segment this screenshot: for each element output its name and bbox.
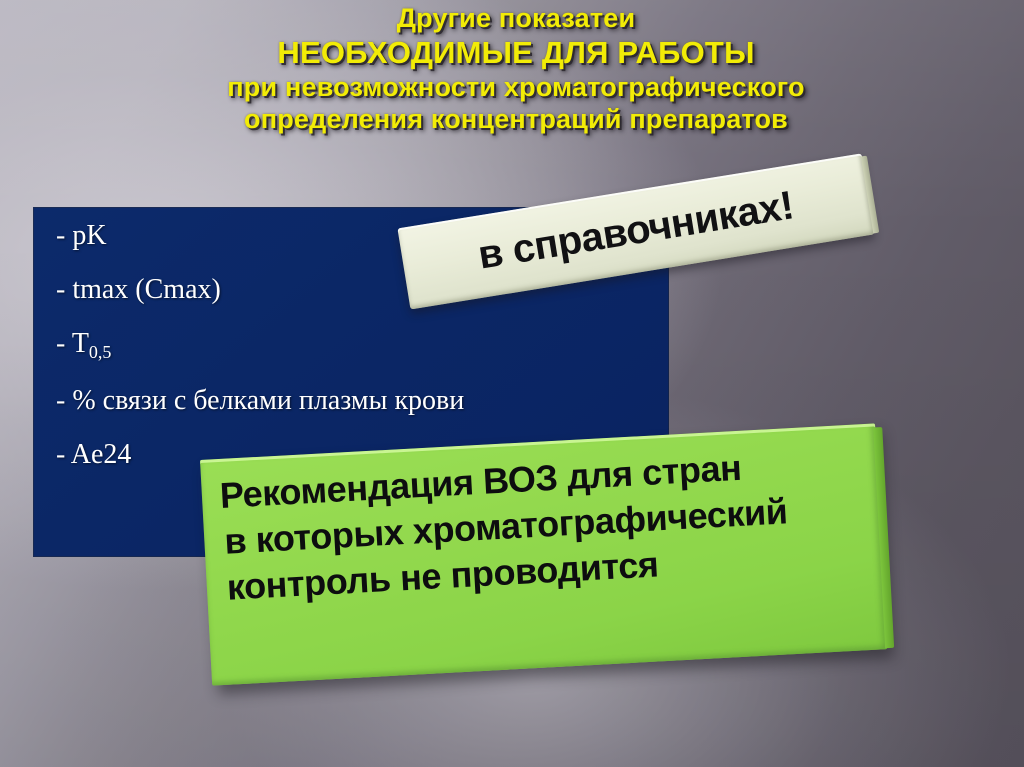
title-line-2: НЕОБХОДИМЫЕ ДЛЯ РАБОТЫ [96, 33, 936, 69]
list-item-text: - Ae24 [56, 439, 131, 470]
list-item-text: - T [56, 328, 89, 359]
title-line-3: при невозможности хроматографического [96, 68, 936, 102]
list-item-subscript: 0,5 [89, 342, 112, 362]
sign-who-recommendation: Рекомендация ВОЗ для стран в которых хро… [200, 423, 887, 685]
title-line-1: Другие показатеи [96, 2, 936, 33]
slide-title: Другие показатеи НЕОБХОДИМЫЕ ДЛЯ РАБОТЫ … [96, 2, 936, 133]
list-item: - % связи с белками плазмы крови [56, 387, 464, 441]
list-item-text: - % связи с белками плазмы крови [56, 385, 464, 416]
list-item: - T0,5 [56, 330, 464, 387]
list-item-text: - tmax (Cmax) [56, 274, 221, 305]
list-item-text: - pK [56, 220, 107, 251]
presentation-slide: Другие показатеи НЕОБХОДИМЫЕ ДЛЯ РАБОТЫ … [0, 0, 1024, 767]
title-line-4: определения концентраций препаратов [96, 102, 936, 134]
list-item: - tmax (Cmax) [56, 276, 464, 330]
